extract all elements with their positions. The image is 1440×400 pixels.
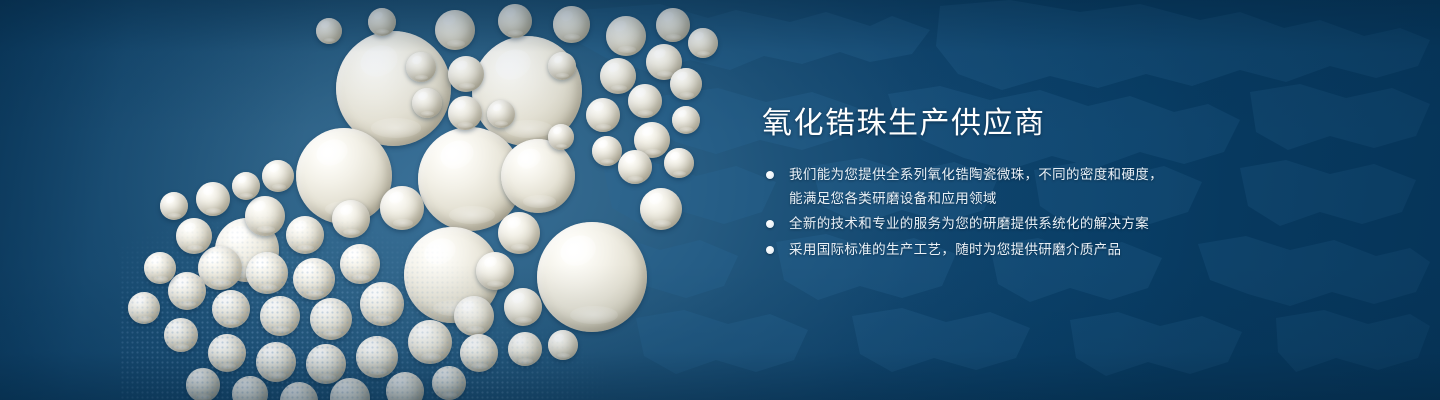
list-item: 采用国际标准的生产工艺，随时为您提供研磨介质产品	[762, 238, 1322, 262]
banner-bullet-list: 我们能为您提供全系列氧化锆陶瓷微珠，不同的密度和硬度， 能满足您各类研磨设备和应…	[762, 163, 1322, 261]
bullet-line: 采用国际标准的生产工艺，随时为您提供研磨介质产品	[789, 238, 1322, 262]
bullet-line: 我们能为您提供全系列氧化锆陶瓷微珠，不同的密度和硬度，	[789, 163, 1322, 187]
list-item: 我们能为您提供全系列氧化锆陶瓷微珠，不同的密度和硬度， 能满足您各类研磨设备和应…	[762, 163, 1322, 210]
bullet-line: 全新的技术和专业的服务为您的研磨提供系统化的解决方案	[789, 212, 1322, 236]
bullet-dot-icon	[766, 246, 774, 254]
bullet-dot-icon	[766, 171, 774, 179]
banner-title: 氧化锆珠生产供应商	[762, 104, 1322, 144]
list-item: 全新的技术和专业的服务为您的研磨提供系统化的解决方案	[762, 212, 1322, 236]
bullet-dot-icon	[766, 220, 774, 228]
bullet-line-continued: 能满足您各类研磨设备和应用领域	[789, 187, 1322, 211]
banner-content: 氧化锆珠生产供应商 我们能为您提供全系列氧化锆陶瓷微珠，不同的密度和硬度， 能满…	[762, 104, 1322, 263]
hero-banner: 氧化锆珠生产供应商 我们能为您提供全系列氧化锆陶瓷微珠，不同的密度和硬度， 能满…	[0, 0, 1440, 400]
